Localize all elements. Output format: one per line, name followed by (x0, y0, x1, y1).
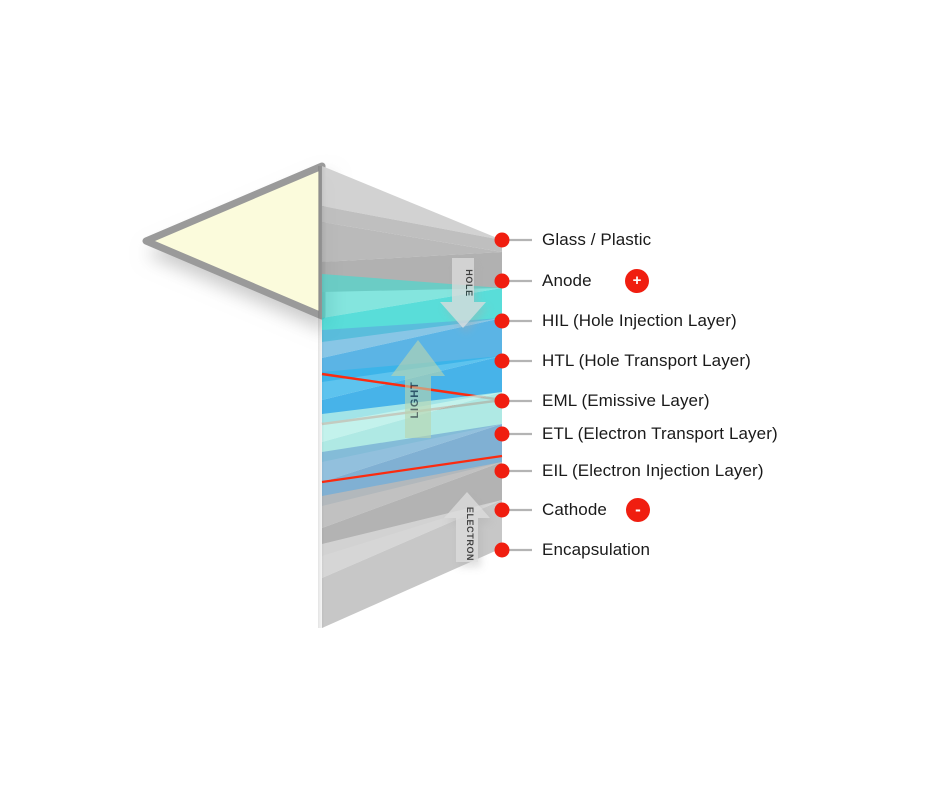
callout-dot-anode (495, 274, 510, 289)
stack-left-edge (318, 166, 324, 628)
callout-dot-htl (495, 354, 510, 369)
layer-label-glass-plastic: Glass / Plastic (542, 231, 651, 248)
layer-label-cathode: Cathode (542, 501, 607, 518)
oled-layer-diagram: HOLE LIGHT ELECTRON (0, 0, 932, 800)
callout-dot-cathode (495, 503, 510, 518)
diagram-canvas: HOLE LIGHT ELECTRON (0, 0, 932, 800)
layer-label-eil: EIL (Electron Injection Layer) (542, 462, 764, 479)
callout-dot-glass-plastic (495, 233, 510, 248)
callout-dot-etl (495, 427, 510, 442)
anode-positive-badge: + (625, 269, 649, 293)
layer-label-htl: HTL (Hole Transport Layer) (542, 352, 751, 369)
layer-label-eml: EML (Emissive Layer) (542, 392, 710, 409)
callout-dot-eml (495, 394, 510, 409)
hole-arrow-label: HOLE (464, 269, 474, 296)
layer-label-anode: Anode (542, 272, 592, 289)
cathode-negative-badge: - (626, 498, 650, 522)
callout-dot-hil (495, 314, 510, 329)
callout-dot-encapsulation (495, 543, 510, 558)
layer-label-encapsulation: Encapsulation (542, 541, 650, 558)
callout-dot-eil (495, 464, 510, 479)
electron-arrow-label: ELECTRON (465, 507, 475, 561)
layer-label-hil: HIL (Hole Injection Layer) (542, 312, 737, 329)
layer-label-etl: ETL (Electron Transport Layer) (542, 425, 778, 442)
emissive-glass-panel (146, 166, 322, 316)
light-arrow-label: LIGHT (409, 382, 421, 419)
